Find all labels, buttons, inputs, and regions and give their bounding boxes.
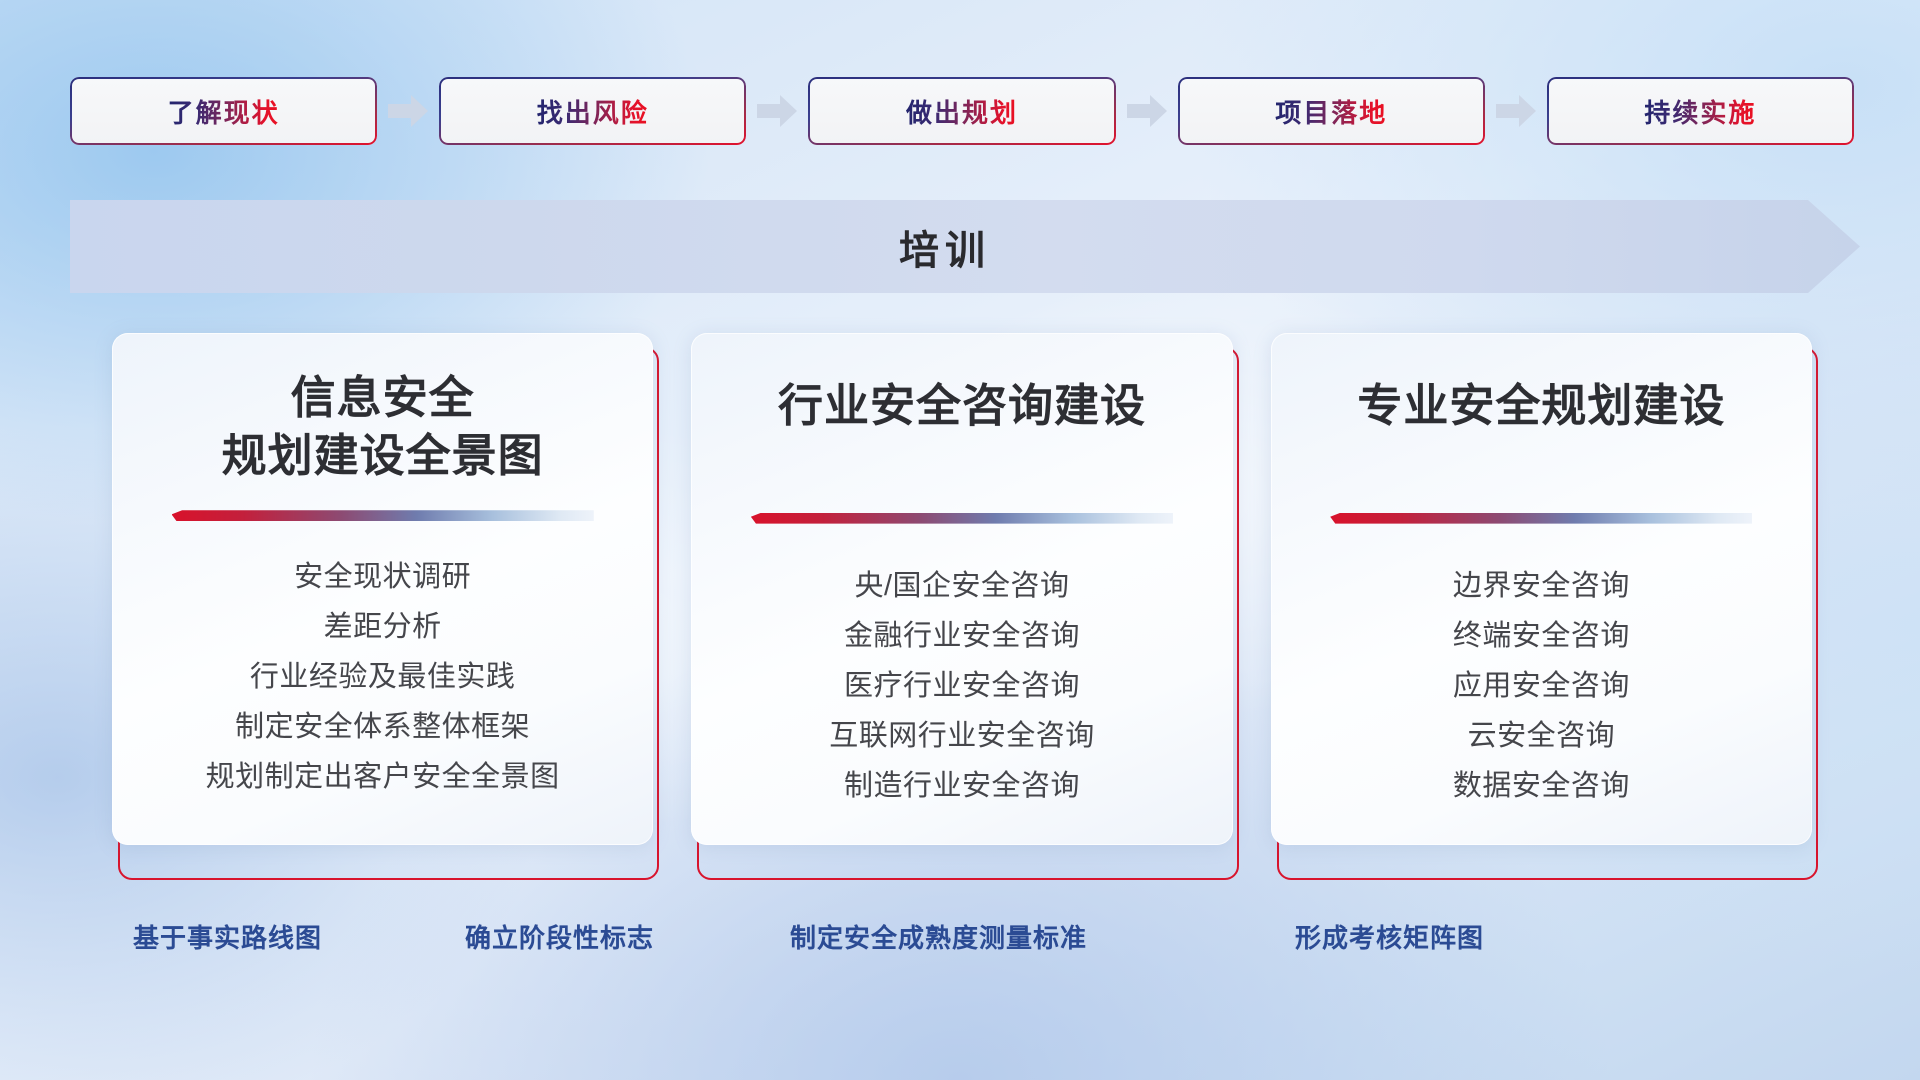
card-divider bbox=[751, 513, 1173, 524]
service-card-1[interactable]: 信息安全 规划建设全景图安全现状调研差距分析行业经验及最佳实践制定安全体系整体框… bbox=[112, 333, 653, 878]
chevron-right-arrow-icon bbox=[1116, 77, 1178, 145]
list-item: 规划制定出客户安全全景图 bbox=[206, 763, 560, 792]
process-step-flow: 了解现状找出风险做出规划项目落地持续实施 bbox=[70, 77, 1854, 145]
list-item: 应用安全咨询 bbox=[1453, 672, 1630, 701]
footnote-label-3: 制定安全成熟度测量标准 bbox=[790, 918, 1087, 955]
footnote-label-1: 基于事实路线图 bbox=[133, 918, 322, 955]
card-item-list: 边界安全咨询终端安全咨询应用安全咨询云安全咨询数据安全咨询 bbox=[1453, 572, 1630, 801]
footnote-label-2: 确立阶段性标志 bbox=[465, 918, 654, 955]
list-item: 差距分析 bbox=[206, 613, 560, 642]
list-item: 安全现状调研 bbox=[206, 563, 560, 592]
list-item: 数据安全咨询 bbox=[1453, 772, 1630, 801]
card-divider bbox=[172, 510, 594, 521]
training-banner-label: 培训 bbox=[70, 200, 1860, 293]
step-label: 找出风险 bbox=[537, 93, 649, 130]
step-box-4[interactable]: 项目落地 bbox=[1178, 77, 1485, 145]
chevron-right-arrow-icon bbox=[1485, 77, 1547, 145]
list-item: 制造行业安全咨询 bbox=[829, 772, 1095, 801]
list-item: 制定安全体系整体框架 bbox=[206, 713, 560, 742]
training-banner: 培训 bbox=[70, 200, 1860, 293]
step-box-1[interactable]: 了解现状 bbox=[70, 77, 377, 145]
card-title: 专业安全规划建设 bbox=[1357, 377, 1725, 435]
list-item: 央/国企安全咨询 bbox=[829, 572, 1095, 601]
footnote-row: 基于事实路线图确立阶段性标志制定安全成熟度测量标准形成考核矩阵图 bbox=[0, 918, 1920, 960]
card-divider-bar bbox=[1330, 513, 1752, 524]
service-card-3[interactable]: 专业安全规划建设边界安全咨询终端安全咨询应用安全咨询云安全咨询数据安全咨询 bbox=[1271, 333, 1812, 878]
card-item-list: 央/国企安全咨询金融行业安全咨询医疗行业安全咨询互联网行业安全咨询制造行业安全咨… bbox=[829, 572, 1095, 801]
step-label: 持续实施 bbox=[1644, 93, 1756, 130]
card-divider-bar bbox=[172, 510, 594, 521]
step-label: 了解现状 bbox=[168, 93, 280, 130]
chevron-right-arrow-icon bbox=[377, 77, 439, 145]
list-item: 互联网行业安全咨询 bbox=[829, 722, 1095, 751]
list-item: 行业经验及最佳实践 bbox=[206, 663, 560, 692]
list-item: 云安全咨询 bbox=[1453, 722, 1630, 751]
list-item: 终端安全咨询 bbox=[1453, 622, 1630, 651]
list-item: 医疗行业安全咨询 bbox=[829, 672, 1095, 701]
card-divider bbox=[1330, 513, 1752, 524]
card-panel: 行业安全咨询建设央/国企安全咨询金融行业安全咨询医疗行业安全咨询互联网行业安全咨… bbox=[691, 333, 1232, 845]
step-label: 做出规划 bbox=[906, 93, 1018, 130]
step-box-2[interactable]: 找出风险 bbox=[439, 77, 746, 145]
card-item-list: 安全现状调研差距分析行业经验及最佳实践制定安全体系整体框架规划制定出客户安全全景… bbox=[206, 563, 560, 792]
card-panel: 专业安全规划建设边界安全咨询终端安全咨询应用安全咨询云安全咨询数据安全咨询 bbox=[1271, 333, 1812, 845]
card-title: 信息安全 规划建设全景图 bbox=[222, 369, 544, 484]
list-item: 金融行业安全咨询 bbox=[829, 622, 1095, 651]
card-panel: 信息安全 规划建设全景图安全现状调研差距分析行业经验及最佳实践制定安全体系整体框… bbox=[112, 333, 653, 845]
step-box-3[interactable]: 做出规划 bbox=[808, 77, 1115, 145]
service-card-2[interactable]: 行业安全咨询建设央/国企安全咨询金融行业安全咨询医疗行业安全咨询互联网行业安全咨… bbox=[691, 333, 1232, 878]
card-divider-bar bbox=[751, 513, 1173, 524]
chevron-right-arrow-icon bbox=[746, 77, 808, 145]
list-item: 边界安全咨询 bbox=[1453, 572, 1630, 601]
step-label: 项目落地 bbox=[1275, 93, 1387, 130]
service-cards: 信息安全 规划建设全景图安全现状调研差距分析行业经验及最佳实践制定安全体系整体框… bbox=[112, 333, 1812, 878]
footnote-label-4: 形成考核矩阵图 bbox=[1295, 918, 1484, 955]
step-box-5[interactable]: 持续实施 bbox=[1547, 77, 1854, 145]
card-title: 行业安全咨询建设 bbox=[778, 377, 1146, 435]
